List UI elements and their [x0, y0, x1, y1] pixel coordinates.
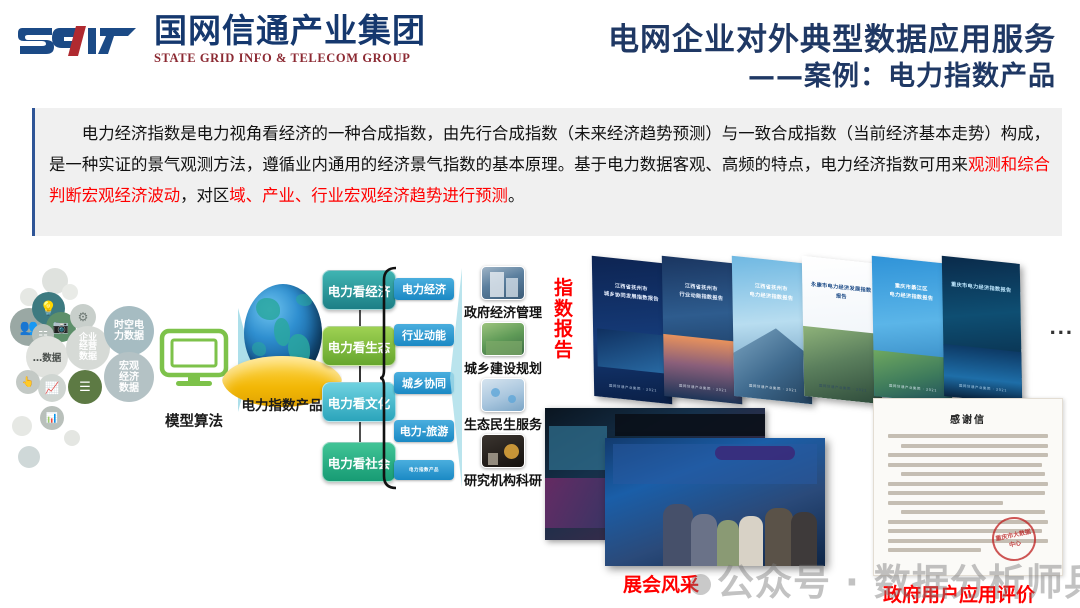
page-title: 电网企业对外典型数据应用服务 [608, 22, 1056, 59]
application-urban-planning[interactable]: 城乡建设规划 [460, 322, 546, 377]
subitem-box-tourism[interactable]: 电力-旅游 [394, 420, 454, 442]
application-ecology-service[interactable]: 生态民生服务 [460, 378, 546, 433]
letter-caption: 政府用户应用评价 [883, 580, 1035, 607]
report-book-6[interactable]: 重庆市电力经济指数报告 国网信通产业集团 · 2021 [942, 256, 1022, 404]
description-panel: 电力经济指数是电力视角看经济的一种合成指数，由先行合成指数（未来经济趋势预测）与… [32, 108, 1062, 236]
bubble-bars-icon: 📊 [40, 406, 64, 430]
seal-text: 重庆市大数据中心 [993, 526, 1036, 552]
report-book-3[interactable]: 江西省抚州市 电力经济指数报告 国网信通产业集团 · 2021 [732, 256, 812, 404]
letter-title: 感谢信 [874, 411, 1062, 426]
bubble-spatiotemporal-data: 时空电力数据 [104, 306, 154, 356]
application-thumb-research [481, 434, 525, 468]
page-subtitle: ——案例：电力指数产品 [608, 61, 1056, 93]
logo-chinese-name: 国网信通产业集团 [154, 14, 426, 49]
report-title-6: 重庆市电力经济指数报告 [942, 280, 1020, 297]
subitem-label-product: 电力指数产品 [409, 467, 439, 473]
subitem-label-tourism: 电力-旅游 [400, 423, 449, 439]
subitem-label-industry: 行业动能 [402, 327, 446, 343]
index-reports-section: 指数报告 江西省抚州市 城乡协同发展指数报告 国网信通产业集团 · 2021 江… [545, 252, 1080, 412]
thank-you-letter-page: 感谢信 重庆市大数据中心 [873, 398, 1063, 576]
report-book-1[interactable]: 江西省抚州市 城乡协同发展指数报告 国网信通产业集团 · 2021 [592, 256, 672, 404]
subitem-label-economy: 电力经济 [402, 281, 446, 297]
application-thumb-urban [481, 322, 525, 356]
subitem-box-urbanrural[interactable]: 城乡协同 [394, 372, 454, 394]
application-thumb-government [481, 266, 525, 300]
description-part-2: ，对区 [180, 186, 229, 205]
bubble-label-other: …数据 [33, 350, 62, 364]
data-flow-diagram: 👥 💡 📷 ⚙ ☷ …数据 企业经营数据 时空电力数据 宏观经济数据 📈 ☰ 👆… [0, 248, 540, 548]
application-research[interactable]: 研究机构科研 [460, 434, 546, 489]
application-thumb-ecology [481, 378, 525, 412]
bubble-label-enterprise: 企业经营数据 [76, 334, 100, 362]
application-label-urban: 城乡建设规划 [460, 358, 546, 377]
subitem-label-urbanrural: 城乡协同 [402, 375, 446, 391]
bubble-label-spatiotemporal: 时空电力数据 [112, 320, 146, 342]
application-label-government: 政府经济管理 [460, 302, 546, 321]
slide-title-block: 电网企业对外典型数据应用服务 ——案例：电力指数产品 [608, 22, 1056, 93]
report-foot-1: 国网信通产业集团 · 2021 [594, 381, 672, 394]
bubble-decor-5 [18, 446, 40, 468]
bubble-macro-data: 宏观经济数据 [104, 352, 154, 402]
bubble-click-icon: 👆 [16, 370, 40, 394]
expo-photo-group: 展会风采 [545, 398, 890, 598]
more-reports-indicator: ... [1050, 314, 1074, 340]
report-book-5[interactable]: 重庆市綦江区 电力经济指数报告 国网信通产业集团 · 2021 [872, 256, 952, 404]
brand-logo: 国网信通产业集团 STATE GRID INFO & TELECOM GROUP [16, 14, 426, 66]
bubble-decor-4 [12, 416, 32, 436]
expo-caption: 展会风采 [623, 570, 699, 597]
report-title-4: 永康市电力经济发展指数 报告 [802, 280, 880, 306]
report-book-2[interactable]: 江西省抚州市 行业动能指数报告 国网信通产业集团 · 2021 [662, 256, 742, 404]
bubble-chart-icon: 📈 [38, 374, 66, 402]
application-government-economy[interactable]: 政府经济管理 [460, 266, 546, 321]
thank-you-letter-group: 感谢信 重庆市大数据中心 政府用户应用评价 [873, 398, 1078, 603]
logo-english-name: STATE GRID INFO & TELECOM GROUP [154, 51, 426, 66]
subitem-box-product[interactable]: 电力指数产品 [394, 460, 454, 480]
sgit-logo-icon [16, 16, 140, 64]
bubble-decor-3 [62, 284, 78, 300]
report-title-2: 江西省抚州市 行业动能指数报告 [662, 280, 740, 306]
bubble-decor-6 [64, 430, 80, 446]
report-title-5: 重庆市綦江区 电力经济指数报告 [872, 280, 950, 306]
application-label-ecology: 生态民生服务 [460, 414, 546, 433]
application-label-research: 研究机构科研 [460, 470, 546, 489]
report-title-1: 江西省抚州市 城乡协同发展指数报告 [592, 280, 670, 306]
subitem-box-economy[interactable]: 电力经济 [394, 278, 454, 300]
slide-root: 国网信通产业集团 STATE GRID INFO & TELECOM GROUP… [0, 0, 1080, 608]
description-part-1: 电力经济指数是电力视角看经济的一种合成指数，由先行合成指数（未来经济趋势预测）与… [49, 124, 1050, 174]
bubble-label-macro: 宏观经济数据 [117, 361, 141, 394]
description-part-3: 。 [508, 186, 524, 205]
subitem-box-industry[interactable]: 行业动能 [394, 324, 454, 346]
description-highlight-2: 域、产业、行业宏观经济趋势进行预测 [229, 186, 508, 205]
expo-photo-front [605, 438, 825, 566]
report-book-4[interactable]: 永康市电力经济发展指数 报告 国网信通产业集团 · 2021 [802, 256, 882, 404]
model-algorithm-icon [158, 328, 230, 395]
bubble-slider-icon: ☰ [68, 370, 102, 404]
data-source-bubbles: 👥 💡 📷 ⚙ ☷ …数据 企业经营数据 时空电力数据 宏观经济数据 📈 ☰ 👆… [4, 266, 174, 506]
report-title-3: 江西省抚州市 电力经济指数报告 [732, 280, 810, 306]
index-reports-label: 指数报告 [554, 278, 576, 360]
description-text: 电力经济指数是电力视角看经济的一种合成指数，由先行合成指数（未来经济趋势预测）与… [49, 118, 1050, 211]
